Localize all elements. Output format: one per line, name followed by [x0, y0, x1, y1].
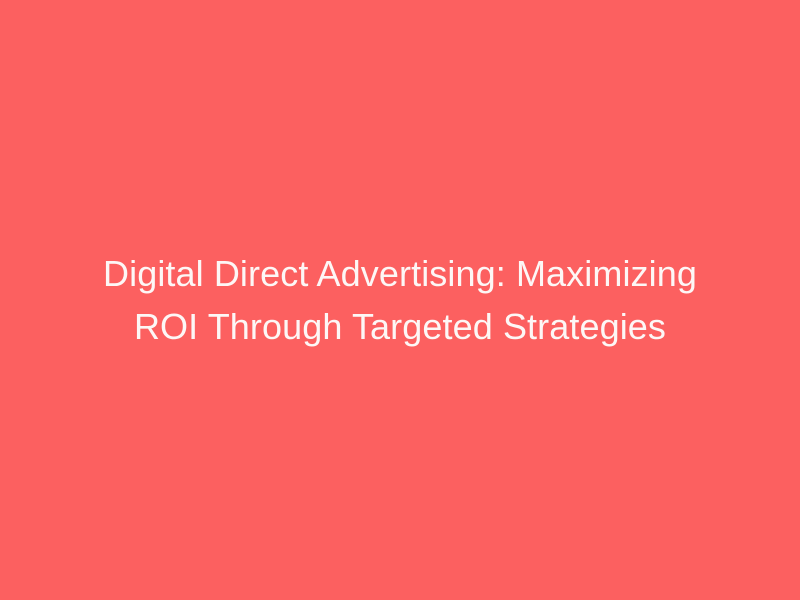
headline-block: Digital Direct Advertising: Maximizing R… [80, 247, 720, 353]
title-card: Digital Direct Advertising: Maximizing R… [0, 0, 800, 600]
page-title: Digital Direct Advertising: Maximizing R… [80, 247, 720, 353]
